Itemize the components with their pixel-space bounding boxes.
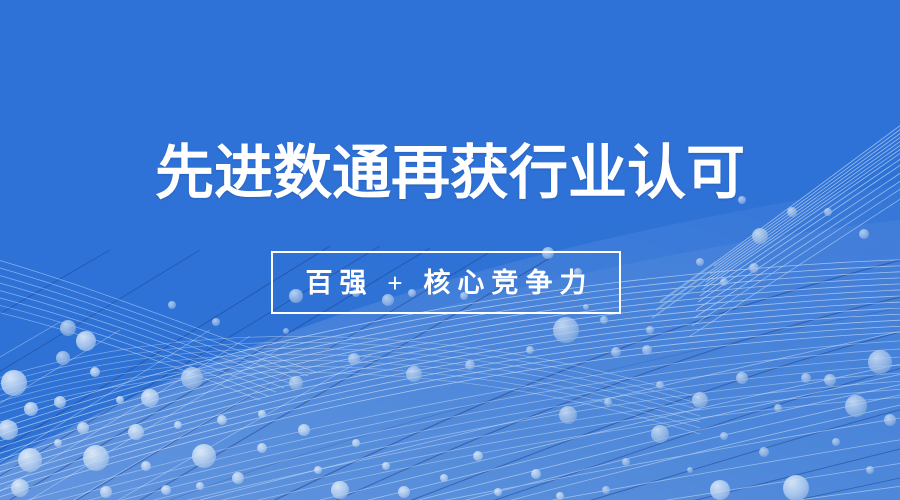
page-title: 先进数通再获行业认可 xyxy=(0,139,900,207)
subtitle-text: 百强 + 核心竞争力 xyxy=(299,268,594,298)
banner-content: 先进数通再获行业认可 百强 + 核心竞争力 xyxy=(0,0,900,500)
promo-banner: 先进数通再获行业认可 百强 + 核心竞争力 xyxy=(0,0,900,500)
subtitle-badge: 百强 + 核心竞争力 xyxy=(271,251,621,314)
